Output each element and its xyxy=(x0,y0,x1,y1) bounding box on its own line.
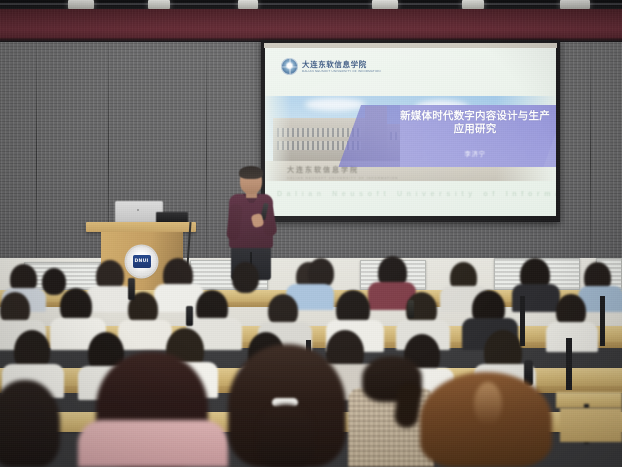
ceiling-light xyxy=(148,0,170,9)
audience-torso xyxy=(78,420,228,467)
cloud xyxy=(305,98,365,111)
ceiling-light xyxy=(238,0,258,9)
ceiling-light xyxy=(462,0,484,9)
ceiling-light xyxy=(68,0,94,9)
logo-chinese-name: 大连东软信息学院 xyxy=(302,61,381,69)
ceiling-light xyxy=(372,0,398,9)
audience-torso xyxy=(86,286,134,312)
wall-seam xyxy=(36,42,37,272)
audience-torso xyxy=(118,320,172,350)
audience-head xyxy=(232,262,259,293)
desk-leg xyxy=(520,296,525,346)
ceiling-light xyxy=(560,0,590,9)
university-emblem-icon xyxy=(281,58,298,75)
photo-left-fade xyxy=(265,96,291,181)
audience-head xyxy=(42,268,66,295)
chair-back xyxy=(560,408,622,442)
hair-highlight xyxy=(474,382,502,426)
lecture-desk xyxy=(556,392,622,408)
speaker-hair xyxy=(239,166,263,179)
slide-presenter-name: 李济宁 xyxy=(395,148,555,158)
slide-title: 新媒体时代数字内容设计与生产 应用研究 xyxy=(395,110,555,136)
podium-emblem-text: DNUI xyxy=(133,255,151,268)
presentation-slide: 大连东软信息学院 DALIAN NEUSOFT UNIVERSITY OF IN… xyxy=(265,48,556,216)
water-bottle xyxy=(128,278,135,300)
audience-head xyxy=(0,380,60,467)
slide-title-line-2: 应用研究 xyxy=(395,123,555,136)
desk-leg xyxy=(566,338,572,390)
audience-torso xyxy=(546,322,598,352)
wall-seam xyxy=(206,42,207,272)
water-bottle xyxy=(186,306,193,326)
slide-title-line-1: 新媒体时代数字内容设计与生产 xyxy=(395,110,555,123)
slide-university-logo: 大连东软信息学院 DALIAN NEUSOFT UNIVERSITY OF IN… xyxy=(281,58,381,75)
logo-english-name: DALIAN NEUSOFT UNIVERSITY OF INFORMATION xyxy=(302,70,381,73)
podium-top xyxy=(86,222,196,232)
audience-ponytail xyxy=(258,404,314,467)
campus-sign-english: DALIAN NEUSOFT UNIVERSITY OF INFORMATION xyxy=(287,176,398,180)
podium-emblem: DNUI xyxy=(126,246,157,277)
wall-seam xyxy=(590,42,591,272)
ceiling-beam xyxy=(0,9,622,42)
beam-texture xyxy=(0,9,622,42)
desk-leg xyxy=(600,296,605,346)
water-bottle xyxy=(408,300,414,318)
slide-watermark: Dalian Neusoft University of Information xyxy=(277,191,547,198)
laptop-logo-dot xyxy=(137,209,139,211)
lecture-hall-photo: 大连东软信息学院 DALIAN NEUSOFT UNIVERSITY OF IN… xyxy=(0,0,622,467)
